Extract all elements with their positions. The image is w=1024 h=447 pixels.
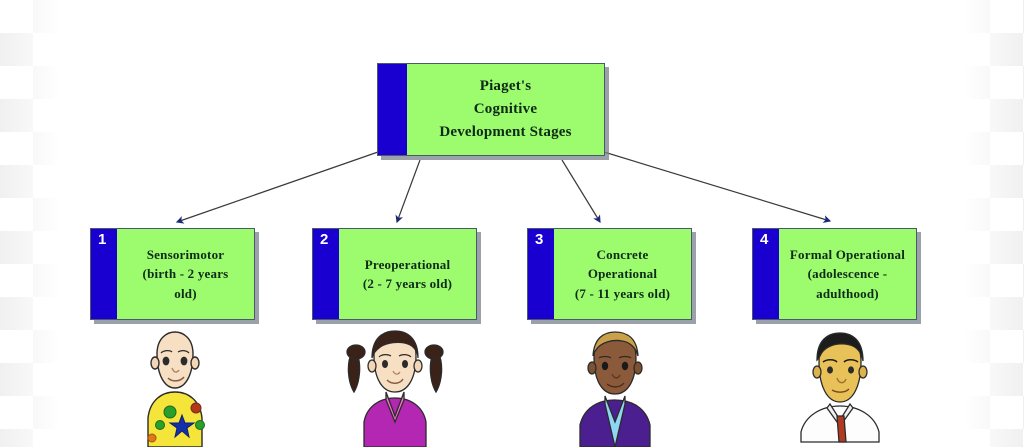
stage-1-label: Sensorimotor (birth - 2 years old)	[117, 229, 254, 319]
stage-box-3[interactable]: 3 Concrete Operational (7 - 11 years old…	[527, 228, 692, 320]
stage-box-2[interactable]: 2 Preoperational (2 - 7 years old)	[312, 228, 477, 320]
stage-1-accent-bar: 1	[91, 229, 117, 319]
title-box-accent-bar	[378, 64, 407, 155]
title-box: Piaget's Cognitive Development Stages	[377, 63, 605, 156]
stage-2-number: 2	[320, 232, 328, 247]
stage-3-label: Concrete Operational (7 - 11 years old)	[554, 229, 691, 319]
stage-4-label: Formal Operational (adolescence - adulth…	[779, 229, 916, 319]
arrow-to-stage-1	[177, 152, 378, 222]
stage-4-accent-bar: 4	[753, 229, 779, 319]
baby-illustration	[110, 330, 240, 447]
stage-2-label: Preoperational (2 - 7 years old)	[339, 229, 476, 319]
stage-2-accent-bar: 2	[313, 229, 339, 319]
stage-3-accent-bar: 3	[528, 229, 554, 319]
stage-box-1[interactable]: 1 Sensorimotor (birth - 2 years old)	[90, 228, 255, 320]
arrow-to-stage-4	[604, 152, 830, 221]
diagram-canvas: Piaget's Cognitive Development Stages 1 …	[0, 0, 1024, 447]
stage-1-number: 1	[98, 232, 106, 247]
stage-3-number: 3	[535, 232, 543, 247]
man-illustration	[775, 330, 905, 447]
girl-illustration	[330, 330, 460, 447]
stage-4-number: 4	[760, 232, 768, 247]
arrow-to-stage-3	[562, 160, 600, 222]
title-box-label: Piaget's Cognitive Development Stages	[407, 64, 604, 155]
boy-illustration	[550, 330, 680, 447]
arrow-to-stage-2	[397, 160, 420, 222]
stage-box-4[interactable]: 4 Formal Operational (adolescence - adul…	[752, 228, 917, 320]
